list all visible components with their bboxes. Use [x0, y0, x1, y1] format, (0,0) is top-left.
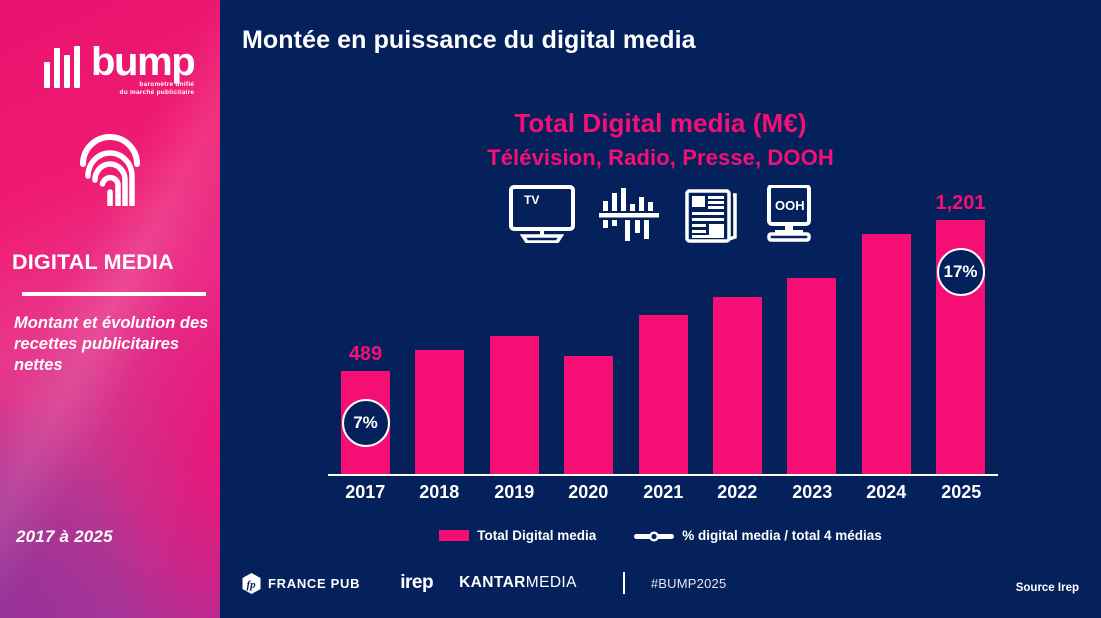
irep-logo-label: irep — [400, 572, 433, 594]
sidebar-description: Montant et évolution des recettes public… — [14, 313, 210, 376]
sidebar-period: 2017 à 2025 — [16, 527, 113, 547]
x-axis-label-2019: 2019 — [477, 482, 551, 503]
x-axis-line — [328, 474, 998, 476]
x-axis-label-2025: 2025 — [924, 482, 998, 503]
bar-2022[interactable] — [713, 297, 762, 474]
sidebar-divider — [22, 292, 206, 296]
bar-rect-2018 — [415, 350, 464, 474]
bump-logo: bump baromètre unifié du marché publicit… — [44, 46, 194, 98]
france-pub-label: FRANCE PUB — [268, 576, 360, 591]
bar-2017[interactable]: 4897% — [341, 371, 390, 474]
fp-hexagon-icon: fp — [242, 573, 261, 594]
footer-divider — [623, 572, 625, 594]
x-axis-label-2020: 2020 — [551, 482, 625, 503]
kantar-media-label: KANTARMEDIA — [459, 574, 577, 592]
x-axis-labels: 201720182019202020212022202320242025 — [328, 482, 998, 508]
legend-item-total-digital-media[interactable]: Total Digital media — [439, 528, 596, 543]
x-axis-label-2023: 2023 — [775, 482, 849, 503]
x-axis-label-2024: 2024 — [849, 482, 923, 503]
bar-2024[interactable] — [862, 234, 911, 474]
kantar-light: MEDIA — [526, 574, 577, 591]
fingerprint-icon — [79, 134, 141, 206]
x-axis-label-2018: 2018 — [402, 482, 476, 503]
bar-2023[interactable] — [787, 278, 836, 474]
bar-rect-2020 — [564, 356, 613, 474]
bar-rect-2019 — [490, 336, 539, 474]
x-axis-label-2022: 2022 — [700, 482, 774, 503]
footer-hashtag: #BUMP2025 — [651, 576, 727, 591]
main-content: Montée en puissance du digital media Tot… — [220, 0, 1101, 618]
kantar-bold: KANTAR — [459, 574, 526, 591]
bar-rect-2021 — [639, 315, 688, 474]
legend-bar-swatch-icon — [439, 530, 469, 541]
chart-legend: Total Digital media % digital media / to… — [220, 528, 1101, 543]
bar-rect-2024 — [862, 234, 911, 474]
france-pub-logo: fp FRANCE PUB — [242, 573, 360, 594]
x-axis-label-2021: 2021 — [626, 482, 700, 503]
bar-2021[interactable] — [639, 315, 688, 474]
sidebar-panel: bump baromètre unifié du marché publicit… — [0, 0, 220, 618]
legend-label-share: % digital media / total 4 médias — [682, 528, 882, 543]
share-bubble-2025[interactable]: 17% — [937, 248, 985, 296]
logo-wordmark: bump — [91, 46, 194, 79]
logo-bars-icon — [44, 46, 80, 88]
bar-2025[interactable]: 1,20117% — [936, 220, 985, 474]
bar-2020[interactable] — [564, 356, 613, 474]
x-axis-label-2017: 2017 — [328, 482, 402, 503]
legend-item-share[interactable]: % digital media / total 4 médias — [634, 528, 882, 543]
legend-line-dot-icon — [634, 530, 674, 541]
source-note: Source Irep — [1016, 582, 1079, 594]
bar-value-label-2017: 489 — [349, 343, 382, 366]
bar-rect-2022 — [713, 297, 762, 474]
logo-tagline-line2: du marché publicitaire — [91, 89, 194, 97]
bar-rect-2023 — [787, 278, 836, 474]
footer-partners: fp FRANCE PUB irep KANTARMEDIA #BUMP2025 — [242, 572, 726, 594]
slide: bump baromètre unifié du marché publicit… — [0, 0, 1101, 618]
legend-label-total: Total Digital media — [477, 528, 596, 543]
share-bubble-2017[interactable]: 7% — [342, 399, 390, 447]
bar-value-label-2025: 1,201 — [935, 192, 985, 215]
page-title: Montée en puissance du digital media — [242, 26, 696, 55]
chart-subtitle: Télévision, Radio, Presse, DOOH — [220, 145, 1101, 171]
chart-title: Total Digital media (M€) — [220, 108, 1101, 139]
sidebar-title: DIGITAL MEDIA — [12, 250, 212, 275]
bar-2019[interactable] — [490, 336, 539, 474]
bar-2018[interactable] — [415, 350, 464, 474]
bar-chart-plot: 4897%1,20117% — [328, 180, 998, 476]
svg-text:fp: fp — [247, 579, 257, 591]
